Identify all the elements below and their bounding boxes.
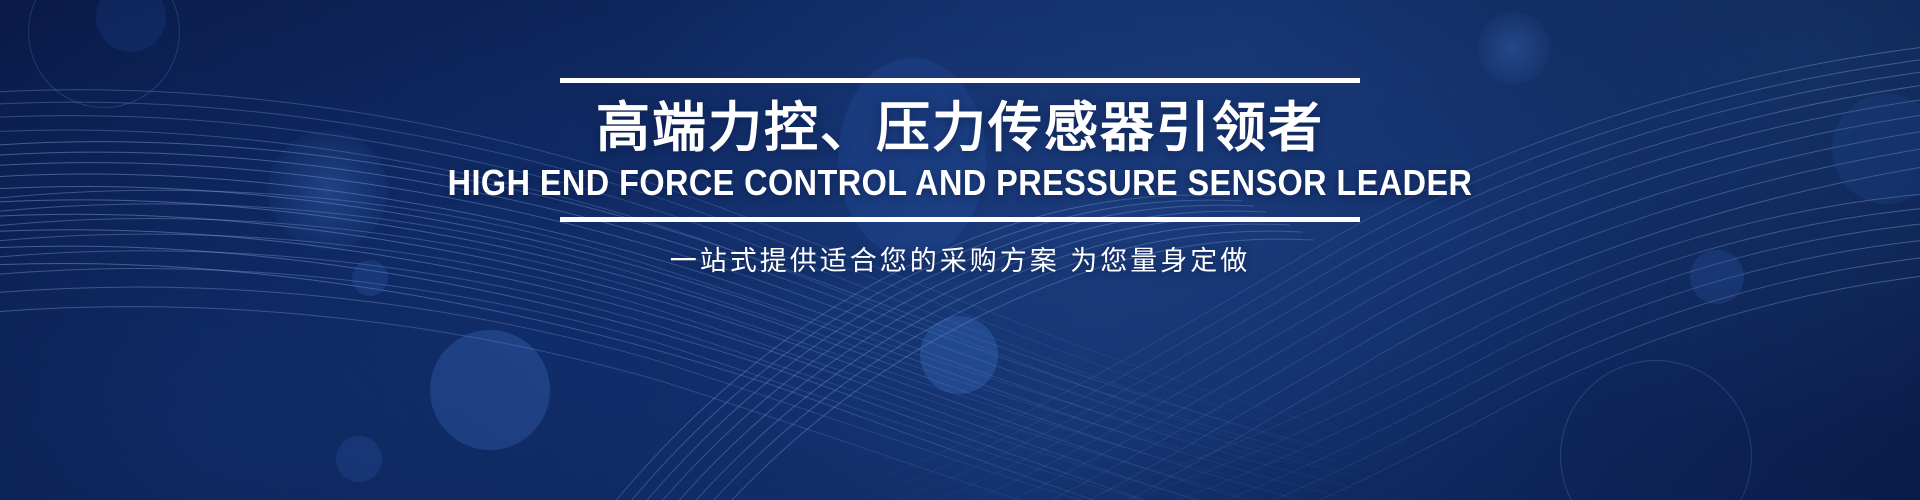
hero-text-block: 高端力控、压力传感器引领者 HIGH END FORCE CONTROL AND… — [0, 78, 1920, 280]
hero-banner: 高端力控、压力传感器引领者 HIGH END FORCE CONTROL AND… — [0, 0, 1920, 500]
bokeh-circle-top-left — [96, 0, 166, 52]
bokeh-circle-bottom-right — [920, 316, 998, 394]
divider-top — [560, 78, 1360, 83]
bokeh-circle-bottom-small — [336, 436, 382, 482]
headline-chinese: 高端力控、压力传感器引领者 — [0, 97, 1920, 159]
tagline-chinese: 一站式提供适合您的采购方案 为您量身定做 — [0, 242, 1920, 280]
subheadline-english: HIGH END FORCE CONTROL AND PRESSURE SENS… — [96, 161, 1824, 205]
bokeh-circle-ring-right — [1560, 360, 1752, 500]
bokeh-circle-bottom-center — [430, 330, 550, 450]
divider-bottom — [560, 217, 1360, 222]
bokeh-circle-right-upper — [1478, 12, 1550, 84]
